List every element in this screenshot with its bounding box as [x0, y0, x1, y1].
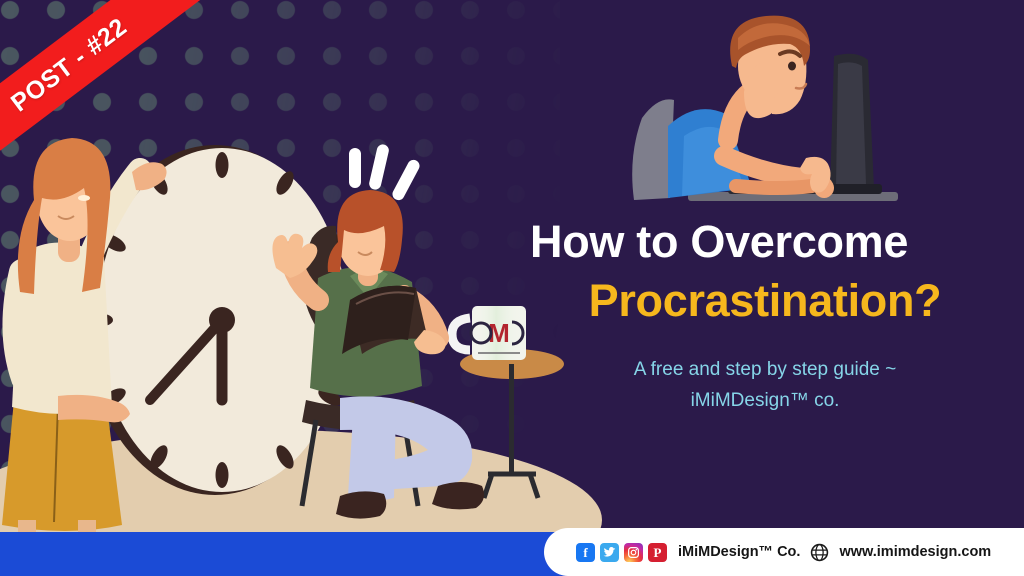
pinterest-icon[interactable]: P	[648, 543, 667, 562]
www-globe-icon	[810, 543, 829, 562]
subtitle-block: A free and step by step guide ~ iMiMDesi…	[530, 355, 1000, 417]
instagram-icon[interactable]	[624, 543, 643, 562]
coffee-mug: M	[452, 306, 526, 360]
subtitle-line-1: A free and step by step guide ~	[530, 355, 1000, 386]
facebook-icon[interactable]: f	[576, 543, 595, 562]
subtitle-line-2: iMiMDesign™ co.	[530, 386, 1000, 417]
headline-line-1: How to Overcome	[530, 212, 1000, 271]
bottom-blue-bar	[0, 532, 620, 576]
poster-canvas: M	[0, 0, 1024, 576]
procrastination-illustration: M	[0, 0, 620, 576]
footer-band: f P iMiMDesign™ Co. www.imimdesign.com	[544, 528, 1024, 576]
footer-url[interactable]: www.imimdesign.com	[839, 544, 991, 560]
headline-line-2: Procrastination?	[530, 271, 1000, 330]
twitter-icon[interactable]	[600, 543, 619, 562]
footer-brand: iMiMDesign™ Co.	[678, 544, 800, 560]
headline-block: How to Overcome Procrastination? A free …	[530, 212, 1000, 416]
computer-monitor	[828, 54, 882, 194]
man-bored-at-computer	[620, 8, 920, 223]
